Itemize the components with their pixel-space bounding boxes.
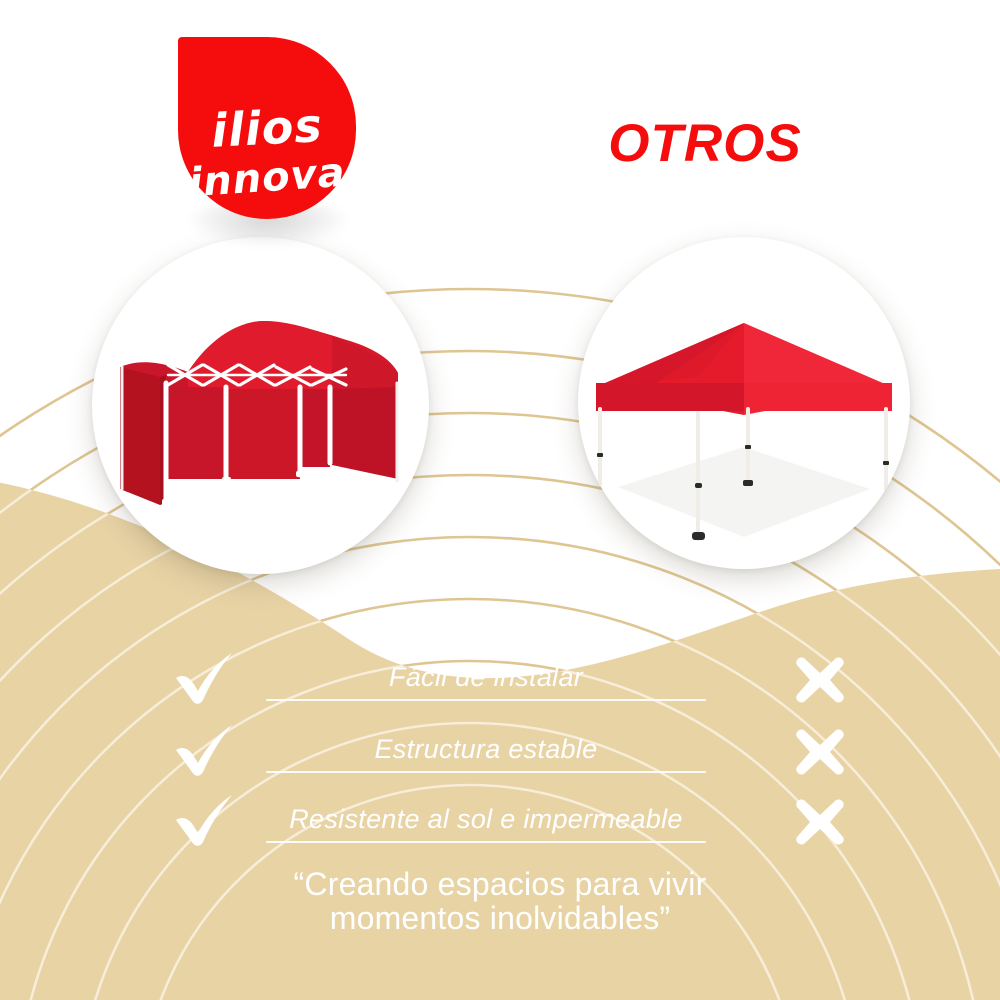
poster-canvas: ilios innova OTROS <box>0 0 1000 1000</box>
comparison-list: Fácil de instalar Estructura estable Res… <box>0 0 1000 1000</box>
feature-rule <box>266 699 706 701</box>
feature-rule <box>266 771 706 773</box>
feature-label: Fácil de instalar <box>266 662 706 693</box>
cross-icon <box>791 796 849 848</box>
feature-row: Resistente al sol e impermeable <box>0 792 1000 864</box>
feature-rule <box>266 841 706 843</box>
check-icon <box>172 792 238 848</box>
cross-icon <box>791 654 849 706</box>
cross-icon <box>791 726 849 778</box>
tagline: “Creando espacios para vivir momentos in… <box>180 868 820 936</box>
tagline-line-1: “Creando espacios para vivir <box>180 868 820 902</box>
check-icon <box>172 650 238 706</box>
tagline-line-2: momentos inolvidables” <box>180 902 820 936</box>
feature-row: Estructura estable <box>0 722 1000 794</box>
feature-label: Resistente al sol e impermeable <box>266 804 706 835</box>
check-icon <box>172 722 238 778</box>
feature-label: Estructura estable <box>266 734 706 765</box>
feature-row: Fácil de instalar <box>0 650 1000 722</box>
